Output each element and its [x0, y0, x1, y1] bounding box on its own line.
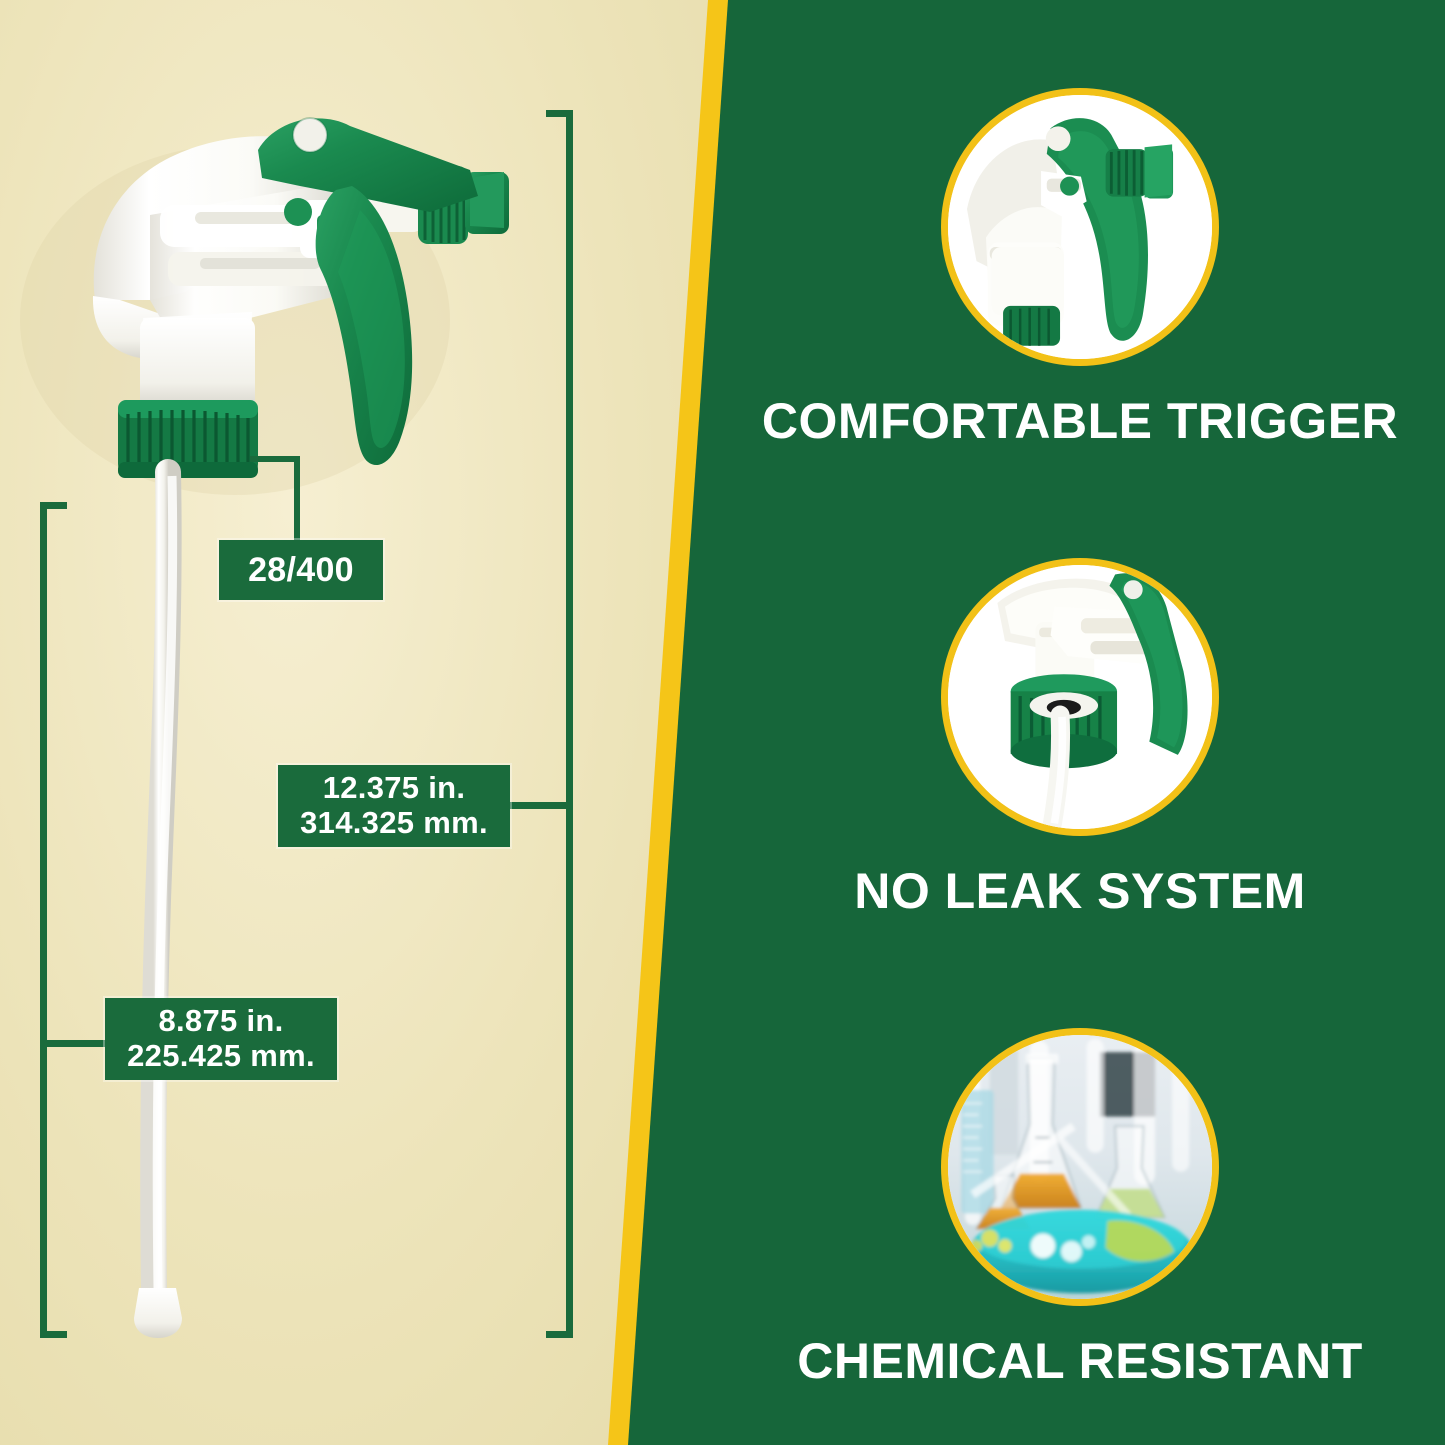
overall-bracket-tick-bottom — [546, 1331, 573, 1338]
dip-tube-length-line-2: 225.425 mm. — [127, 1039, 315, 1074]
dimension-label-dip-tube-length: 8.875 in. 225.425 mm. — [105, 998, 337, 1080]
feature-image-chemical-resistant — [941, 1028, 1219, 1306]
trigger-closeup-photo — [948, 95, 1212, 359]
feature-block-chemical-resistant: CHEMICAL RESISTANT — [730, 1028, 1430, 1390]
feature-block-no-leak-system: NO LEAK SYSTEM — [730, 558, 1430, 920]
feature-image-comfortable-trigger — [941, 88, 1219, 366]
cap-closeup-photo — [948, 565, 1212, 829]
dip-tube-length-line-1: 8.875 in. — [158, 1004, 283, 1039]
product-illustration-area — [0, 0, 724, 1445]
lab-glassware-photo — [948, 1035, 1212, 1299]
dip-tube-foot — [134, 1288, 182, 1338]
tube-bracket-tick-bottom — [40, 1331, 67, 1338]
overall-bracket-tick-top — [546, 110, 573, 117]
dimension-label-neck-size: 28/400 — [219, 540, 383, 600]
feature-title-chemical-resistant: CHEMICAL RESISTANT — [797, 1332, 1363, 1390]
overall-length-line-1: 12.375 in. — [323, 771, 466, 806]
tube-label-leader — [44, 1040, 110, 1047]
trigger-sprayer-image — [0, 0, 724, 1445]
closure-cap — [118, 400, 258, 478]
neck-label-leader-horizontal — [250, 456, 300, 462]
neck-label-leader-vertical — [294, 456, 300, 542]
tube-bracket-tick-top — [40, 502, 67, 509]
feature-title-comfortable-trigger: COMFORTABLE TRIGGER — [762, 392, 1398, 450]
neck-size-line-1: 28/400 — [248, 551, 354, 589]
feature-title-no-leak-system: NO LEAK SYSTEM — [854, 862, 1305, 920]
feature-block-comfortable-trigger: COMFORTABLE TRIGGER — [730, 88, 1430, 450]
overall-length-line-2: 314.325 mm. — [300, 806, 488, 841]
overall-bracket-line — [566, 110, 573, 1338]
dimension-label-overall-length: 12.375 in. 314.325 mm. — [278, 765, 510, 847]
infographic-canvas: 28/400 12.375 in. 314.325 mm. 8.875 in. … — [0, 0, 1445, 1445]
overall-label-leader — [505, 802, 571, 809]
feature-image-no-leak-system — [941, 558, 1219, 836]
tube-bracket-line — [40, 502, 47, 1338]
